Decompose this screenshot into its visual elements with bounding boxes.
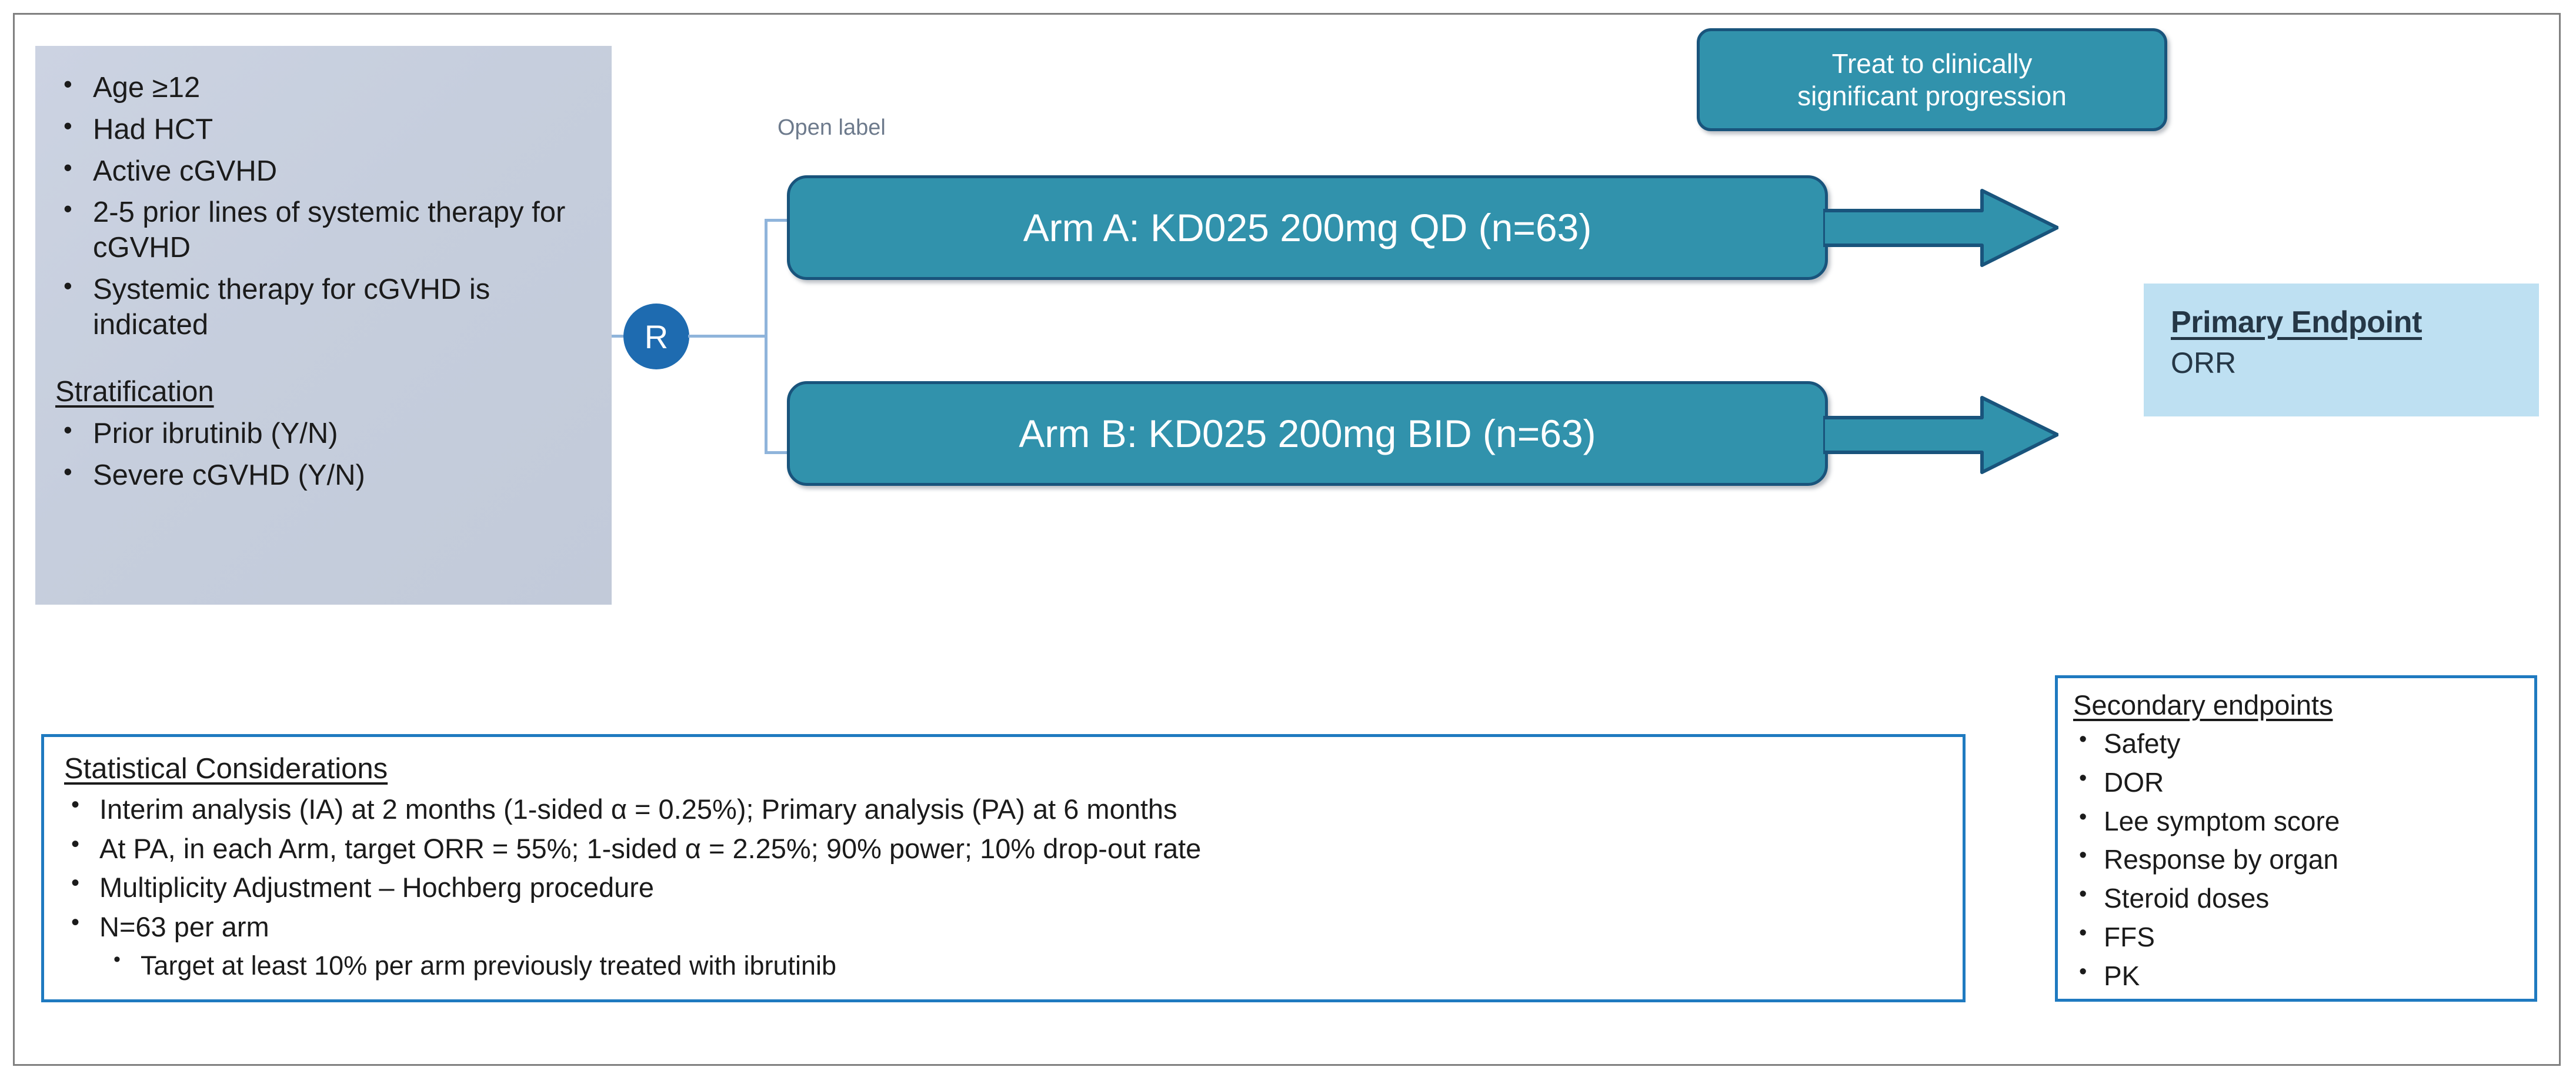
statistical-consideration-subitem: Target at least 10% per arm previously t… — [99, 947, 1963, 985]
statistical-considerations-title: Statistical Considerations — [64, 752, 1963, 785]
statistical-considerations-list: Interim analysis (IA) at 2 months (1-sid… — [64, 790, 1963, 985]
primary-endpoint-box: Primary Endpoint ORR — [2144, 284, 2539, 416]
statistical-consideration-text: N=63 per arm — [99, 911, 269, 942]
primary-endpoint-title: Primary Endpoint — [2171, 305, 2539, 340]
open-label-annotation: Open label — [778, 115, 886, 141]
secondary-endpoints-box: Secondary endpoints Safety DOR Lee sympt… — [2055, 675, 2537, 1002]
treat-to-progression-callout: Treat to clinically significant progress… — [1697, 28, 2167, 131]
statistical-considerations-box: Statistical Considerations Interim analy… — [41, 734, 1966, 1002]
secondary-endpoint-item: DOR — [2073, 763, 2534, 802]
statistical-consideration-item: N=63 per arm Target at least 10% per arm… — [64, 908, 1963, 985]
eligibility-criterion: Active cGVHD — [55, 154, 594, 189]
secondary-endpoint-item: Lee symptom score — [2073, 802, 2534, 841]
primary-endpoint-value: ORR — [2171, 346, 2539, 380]
randomization-node: R — [623, 304, 689, 369]
eligibility-criterion: Age ≥12 — [55, 71, 594, 106]
connector-line-out-of-randomization — [688, 335, 768, 338]
treat-callout-line-1: Treat to clinically — [1832, 48, 2033, 79]
stratification-factor: Prior ibrutinib (Y/N) — [55, 416, 594, 452]
secondary-endpoint-item: Safety — [2073, 725, 2534, 763]
statistical-consideration-item: At PA, in each Arm, target ORR = 55%; 1-… — [64, 829, 1963, 869]
secondary-endpoint-item: FFS — [2073, 918, 2534, 957]
eligibility-criterion: Had HCT — [55, 112, 594, 148]
secondary-endpoint-item: Steroid doses — [2073, 879, 2534, 918]
secondary-endpoint-item: Response by organ — [2073, 841, 2534, 879]
statistical-consideration-item: Multiplicity Adjustment – Hochberg proce… — [64, 868, 1963, 908]
trial-design-slide: Age ≥12 Had HCT Active cGVHD 2-5 prior l… — [0, 0, 2576, 1087]
block-arrow-arm-a-icon — [1823, 188, 2058, 268]
statistical-consideration-item: Interim analysis (IA) at 2 months (1-sid… — [64, 790, 1963, 829]
arm-b-box: Arm B: KD025 200mg BID (n=63) — [787, 381, 1828, 486]
statistical-considerations-sublist: Target at least 10% per arm previously t… — [99, 947, 1963, 985]
connector-line-vertical-split — [765, 219, 768, 454]
stratification-list: Prior ibrutinib (Y/N) Severe cGVHD (Y/N) — [55, 416, 594, 494]
eligibility-panel: Age ≥12 Had HCT Active cGVHD 2-5 prior l… — [35, 46, 612, 605]
eligibility-criterion: 2-5 prior lines of systemic therapy for … — [55, 195, 594, 266]
eligibility-criterion: Systemic therapy for cGVHD is indicated — [55, 272, 594, 343]
block-arrow-arm-b-icon — [1823, 395, 2058, 475]
stratification-factor: Severe cGVHD (Y/N) — [55, 458, 594, 494]
secondary-endpoints-title: Secondary endpoints — [2073, 689, 2534, 721]
secondary-endpoint-item: PK — [2073, 957, 2534, 996]
eligibility-criteria-list: Age ≥12 Had HCT Active cGVHD 2-5 prior l… — [55, 71, 594, 342]
arm-a-box: Arm A: KD025 200mg QD (n=63) — [787, 175, 1828, 280]
secondary-endpoints-list: Safety DOR Lee symptom score Response by… — [2073, 725, 2534, 995]
stratification-heading: Stratification — [55, 375, 594, 408]
treat-callout-line-2: significant progression — [1797, 81, 2067, 111]
